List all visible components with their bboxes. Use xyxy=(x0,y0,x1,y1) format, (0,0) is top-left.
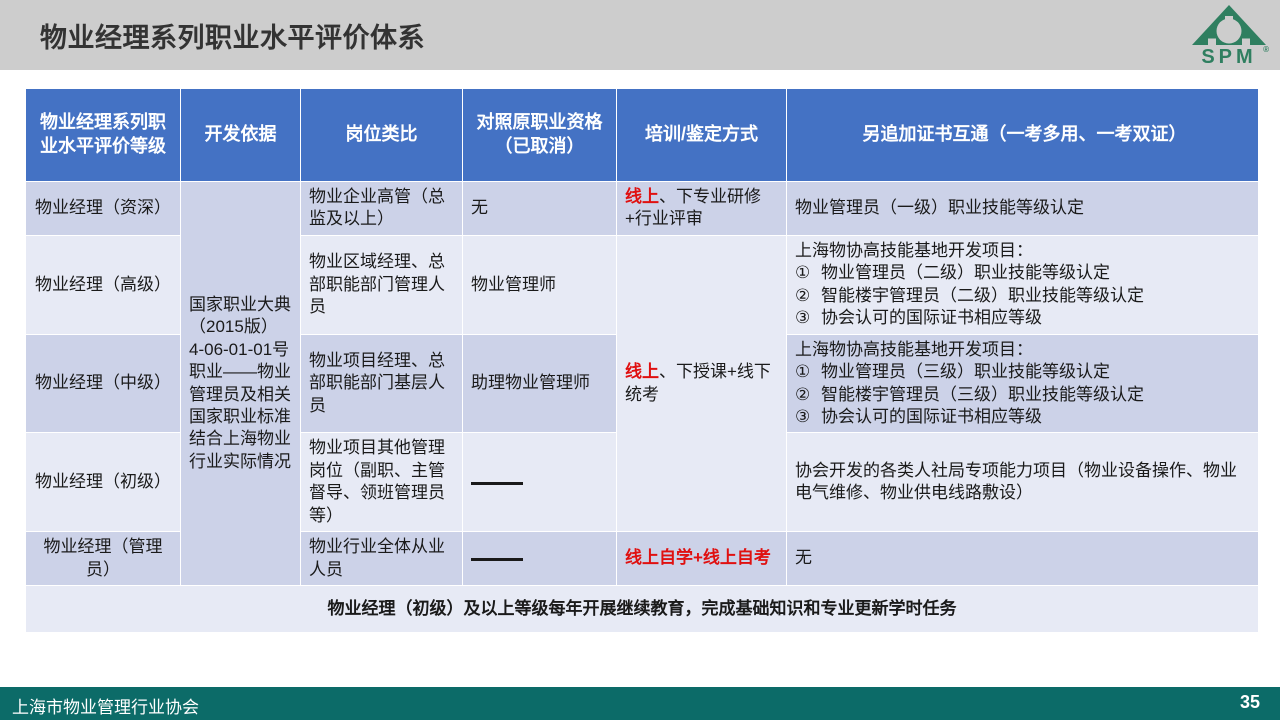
cell-level: 物业经理（高级） xyxy=(26,235,181,334)
cert-item: ③协会认可的国际证书相应等级 xyxy=(795,307,1250,329)
cell-training: 线上自学+线上自考 xyxy=(617,532,787,586)
footer-note: 物业经理（初级）及以上等级每年开展继续教育，完成基础知识和专业更新学时任务 xyxy=(26,586,1259,633)
cell-level: 物业经理（资深） xyxy=(26,182,181,236)
evaluation-matrix-table: 物业经理系列职业水平评价等级 开发依据 岗位类比 对照原职业资格（已取消） 培训… xyxy=(25,88,1258,633)
col-header-basis: 开发依据 xyxy=(181,89,301,182)
cell-job: 物业行业全体从业人员 xyxy=(301,532,463,586)
cert-item: ①物业管理员（二级）职业技能等级认定 xyxy=(795,262,1250,284)
page-title: 物业经理系列职业水平评价体系 xyxy=(40,16,425,55)
dash-icon xyxy=(471,558,523,561)
cert-item-text: 协会认可的国际证书相应等级 xyxy=(821,407,1042,426)
cert-title: 物业管理员（一级）职业技能等级认定 xyxy=(795,197,1250,219)
dash-icon xyxy=(471,482,523,485)
cell-training-merged: 线上、下授课+线下统考 xyxy=(617,235,787,531)
cert-item-list: ①物业管理员（三级）职业技能等级认定 ②智能楼宇管理员（三级）职业技能等级认定 … xyxy=(795,361,1250,428)
cert-item-number: ① xyxy=(795,361,821,383)
cell-certificate: 物业管理员（一级）职业技能等级认定 xyxy=(787,182,1259,236)
cert-item-text: 物业管理员（二级）职业技能等级认定 xyxy=(821,263,1110,282)
logo-registered-mark: ® xyxy=(1263,45,1269,54)
cert-item-number: ② xyxy=(795,384,821,406)
page-number: 35 xyxy=(1240,692,1260,713)
cert-item: ①物业管理员（三级）职业技能等级认定 xyxy=(795,361,1250,383)
training-highlight: 线上自学+线上自考 xyxy=(625,548,771,567)
col-header-qualification: 对照原职业资格（已取消） xyxy=(463,89,617,182)
cell-qualification xyxy=(463,433,617,532)
cert-title: 协会开发的各类人社局专项能力项目（物业设备操作、物业电气维修、物业供电线路敷设） xyxy=(795,460,1250,505)
col-header-level: 物业经理系列职业水平评价等级 xyxy=(26,89,181,182)
cell-qualification: 无 xyxy=(463,182,617,236)
col-header-job: 岗位类比 xyxy=(301,89,463,182)
table-header-row: 物业经理系列职业水平评价等级 开发依据 岗位类比 对照原职业资格（已取消） 培训… xyxy=(26,89,1259,182)
cell-certificate: 无 xyxy=(787,532,1259,586)
col-header-training: 培训/鉴定方式 xyxy=(617,89,787,182)
cell-job: 物业企业高管（总监及以上） xyxy=(301,182,463,236)
cell-certificate: 协会开发的各类人社局专项能力项目（物业设备操作、物业电气维修、物业供电线路敷设） xyxy=(787,433,1259,532)
cert-item-text: 物业管理员（三级）职业技能等级认定 xyxy=(821,362,1110,381)
cert-item-list: ①物业管理员（二级）职业技能等级认定 ②智能楼宇管理员（二级）职业技能等级认定 … xyxy=(795,262,1250,329)
cert-title: 上海物协高技能基地开发项目： xyxy=(795,339,1250,361)
logo-wordmark: SPM xyxy=(1186,46,1272,69)
cell-level: 物业经理（初级） xyxy=(26,433,181,532)
table-row: 物业经理（资深） 国家职业大典（2015版）4-06-01-01号职业——物业管… xyxy=(26,182,1259,236)
cert-item-number: ② xyxy=(795,285,821,307)
cell-level: 物业经理（中级） xyxy=(26,334,181,433)
cert-title: 上海物协高技能基地开发项目： xyxy=(795,240,1250,262)
spm-logo: SPM ® xyxy=(1186,2,1272,68)
cell-certificate: 上海物协高技能基地开发项目： ①物业管理员（三级）职业技能等级认定 ②智能楼宇管… xyxy=(787,334,1259,433)
col-header-certificate: 另追加证书互通（一考多用、一考双证） xyxy=(787,89,1259,182)
cell-certificate: 上海物协高技能基地开发项目： ①物业管理员（二级）职业技能等级认定 ②智能楼宇管… xyxy=(787,235,1259,334)
cert-item-text: 协会认可的国际证书相应等级 xyxy=(821,308,1042,327)
cell-qualification xyxy=(463,532,617,586)
cell-qualification: 助理物业管理师 xyxy=(463,334,617,433)
cell-job: 物业项目经理、总部职能部门基层人员 xyxy=(301,334,463,433)
organization-name: 上海市物业管理行业协会 xyxy=(12,693,199,718)
cell-training: 线上、下专业研修+行业评审 xyxy=(617,182,787,236)
triangle-logo-icon xyxy=(1186,2,1272,48)
cert-item-text: 智能楼宇管理员（三级）职业技能等级认定 xyxy=(821,385,1144,404)
slide-footer-bar: 上海市物业管理行业协会 35 xyxy=(0,687,1280,720)
cert-item: ②智能楼宇管理员（二级）职业技能等级认定 xyxy=(795,285,1250,307)
slide-header: 物业经理系列职业水平评价体系 SPM ® xyxy=(0,0,1280,70)
cell-basis: 国家职业大典（2015版）4-06-01-01号职业——物业管理员及相关国家职业… xyxy=(181,182,301,586)
cert-item-number: ③ xyxy=(795,307,821,329)
cert-item-number: ③ xyxy=(795,406,821,428)
cert-item-number: ① xyxy=(795,262,821,284)
cell-job: 物业项目其他管理岗位（副职、主管督导、领班管理员等） xyxy=(301,433,463,532)
training-highlight: 线上 xyxy=(625,187,659,206)
cell-qualification: 物业管理师 xyxy=(463,235,617,334)
training-highlight: 线上 xyxy=(625,362,659,381)
table-footer-note-row: 物业经理（初级）及以上等级每年开展继续教育，完成基础知识和专业更新学时任务 xyxy=(26,586,1259,633)
cert-item-text: 智能楼宇管理员（二级）职业技能等级认定 xyxy=(821,286,1144,305)
cell-job: 物业区域经理、总部职能部门管理人员 xyxy=(301,235,463,334)
cert-item: ②智能楼宇管理员（三级）职业技能等级认定 xyxy=(795,384,1250,406)
cert-item: ③协会认可的国际证书相应等级 xyxy=(795,406,1250,428)
cell-level: 物业经理（管理员） xyxy=(26,532,181,586)
